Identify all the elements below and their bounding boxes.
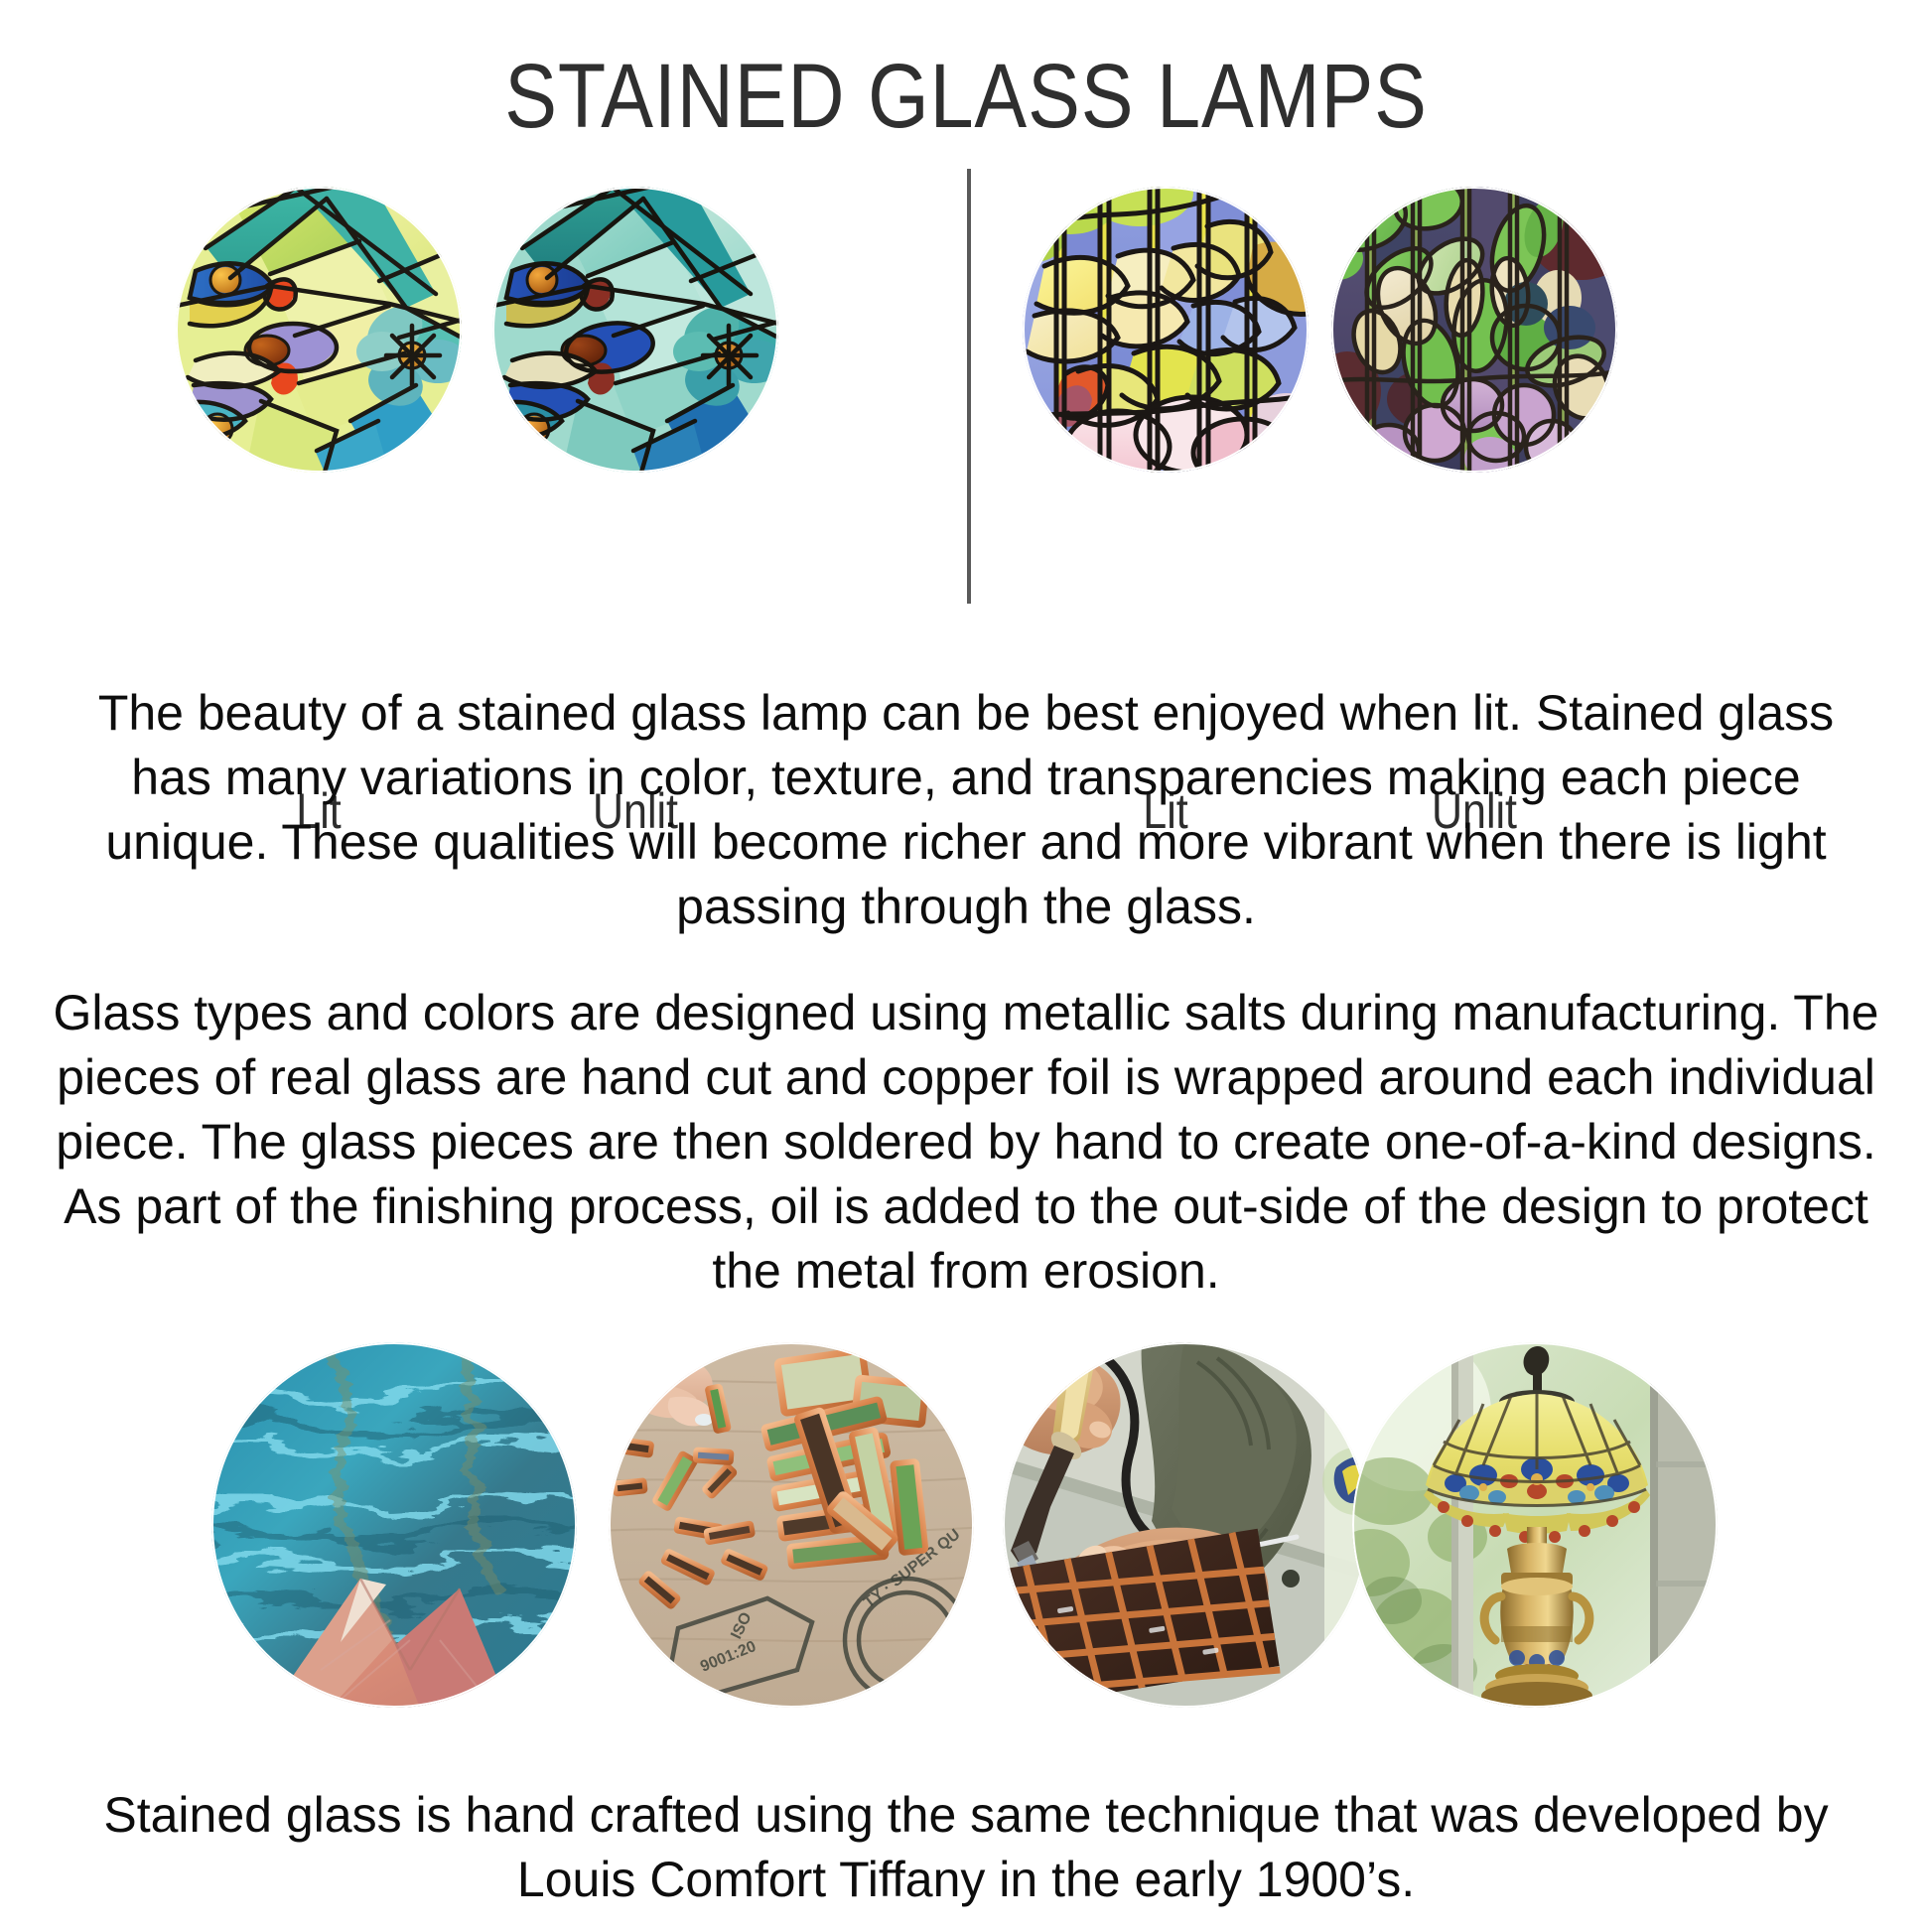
floral-stained-glass-lit-image xyxy=(1023,187,1309,473)
finished-lamp-photo-image xyxy=(1352,1342,1718,1708)
process-item-finished-lamp xyxy=(1352,1342,1718,1708)
lamp-comparison-row: Lit xyxy=(0,187,1932,484)
infographic-page: STAINED GLASS LAMPS xyxy=(0,0,1932,1932)
page-title: STAINED GLASS LAMPS xyxy=(135,48,1797,146)
hand-soldering-photo-image xyxy=(1003,1342,1368,1708)
copper-foiling-photo-image: TY · SUPER QU 9001:20 ISO xyxy=(609,1342,974,1708)
dragonfly-stained-glass-lit-image xyxy=(176,187,462,473)
process-item-hand-soldering xyxy=(1003,1342,1368,1708)
comparison-item-floral-unlit: Unlit xyxy=(1331,187,1617,473)
comparison-item-floral-lit: Lit xyxy=(1023,187,1309,473)
comparison-item-dragonfly-unlit: Unlit xyxy=(492,187,778,473)
comparison-item-dragonfly-lit: Lit xyxy=(176,187,462,473)
pair-divider xyxy=(967,169,971,604)
process-images-row: TY · SUPER QU 9001:20 ISO xyxy=(0,1342,1932,1720)
process-item-glass-sheets xyxy=(211,1342,577,1708)
paragraph-process: Glass types and colors are designed usin… xyxy=(53,981,1879,1304)
paragraph-heritage: Stained glass is hand crafted using the … xyxy=(58,1783,1874,1912)
paragraph-intro: The beauty of a stained glass lamp can b… xyxy=(58,681,1874,939)
glass-sheets-photo-image xyxy=(211,1342,577,1708)
process-item-copper-foiling: TY · SUPER QU 9001:20 ISO xyxy=(609,1342,974,1708)
dragonfly-stained-glass-unlit-image xyxy=(492,187,778,473)
floral-stained-glass-unlit-image xyxy=(1331,187,1617,473)
